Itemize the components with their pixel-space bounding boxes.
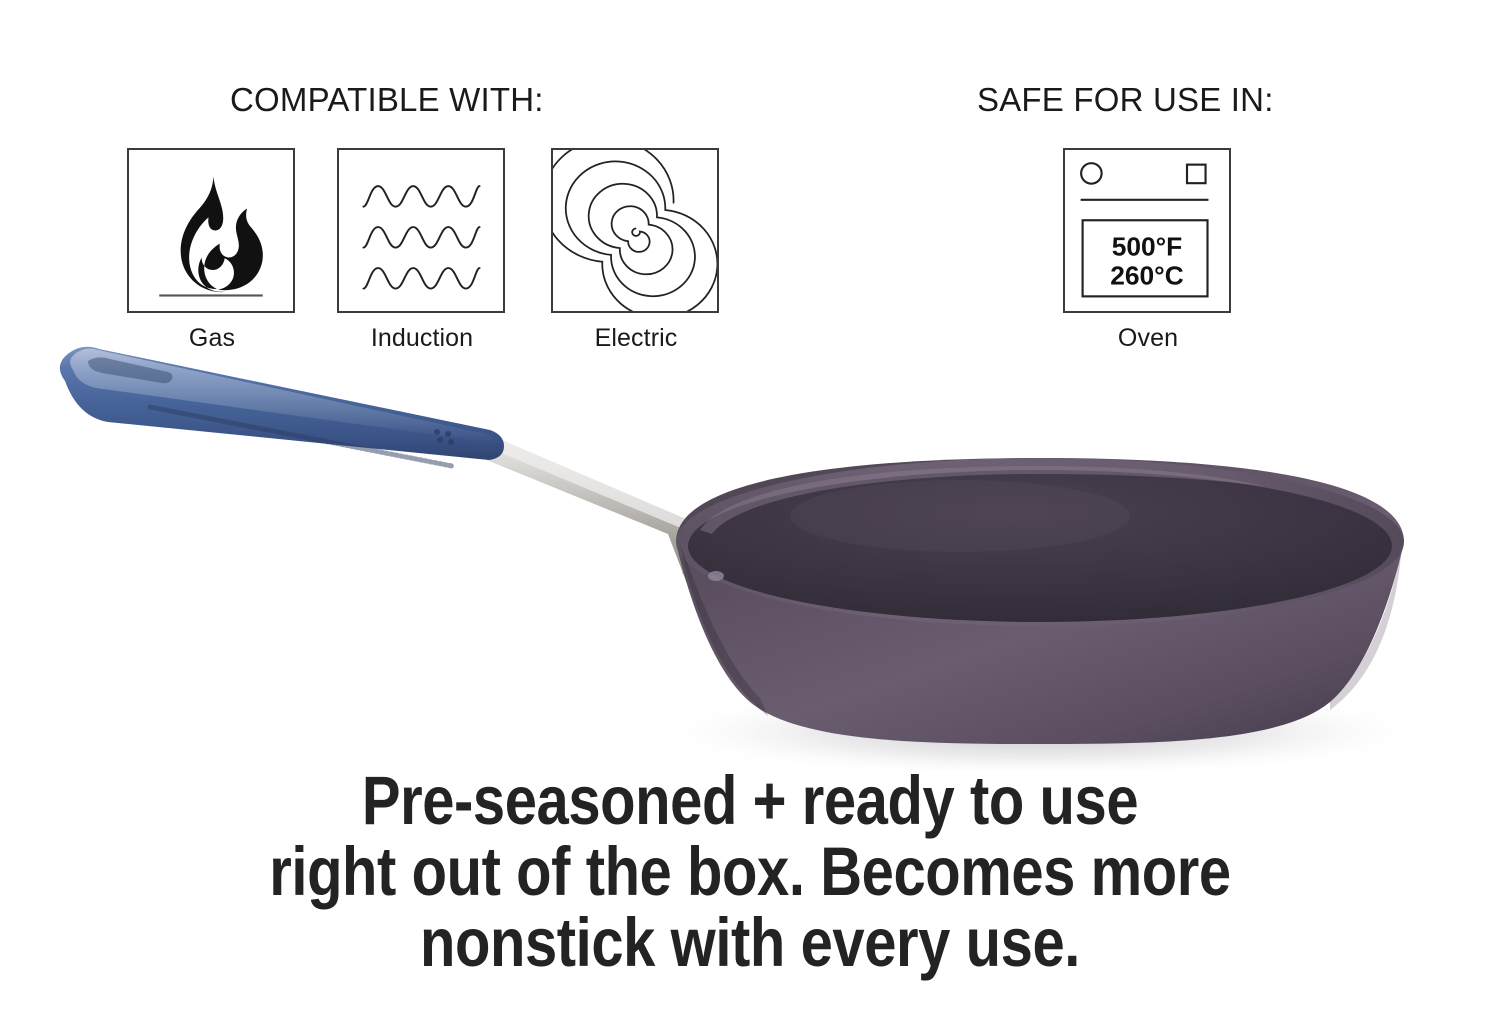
pan-silicone-handle-grip <box>60 347 504 466</box>
induction-icon-box <box>337 148 505 313</box>
pan-illustration-svg <box>0 330 1460 770</box>
induction-waves-icon <box>339 150 503 311</box>
pan-rivet <box>708 571 724 581</box>
compatibility-item-electric: Electric <box>551 148 721 353</box>
oven-icon-box: 500°F 260°C <box>1063 148 1231 313</box>
pan-steel-stem <box>462 428 722 611</box>
electric-coil-spiral-icon <box>553 150 717 311</box>
product-feature-graphic: COMPATIBLE WITH: SAFE FOR USE IN: Gas In… <box>0 0 1500 1015</box>
compatible-with-heading: COMPATIBLE WITH: <box>230 81 544 119</box>
headline-line-2: right out of the box. Becomes more <box>120 836 1380 907</box>
oven-temp-celsius: 260°C <box>1110 261 1183 291</box>
oven-icon: 500°F 260°C <box>1065 150 1229 311</box>
compatibility-item-induction: Induction <box>337 148 507 353</box>
headline-line-1: Pre-seasoned + ready to use <box>120 765 1380 836</box>
gas-icon-box <box>127 148 295 313</box>
pan-body <box>676 458 1404 744</box>
oven-temp-fahrenheit: 500°F <box>1112 231 1183 261</box>
headline-text: Pre-seasoned + ready to use right out of… <box>120 765 1380 978</box>
safe-for-use-in-heading: SAFE FOR USE IN: <box>977 81 1274 119</box>
safe-use-item-oven: 500°F 260°C Oven <box>1063 148 1233 353</box>
flame-icon <box>129 150 293 311</box>
compatibility-item-gas: Gas <box>127 148 297 353</box>
headline-line-3: nonstick with every use. <box>120 907 1380 978</box>
electric-icon-box <box>551 148 719 313</box>
frying-pan-product-image <box>0 330 1460 770</box>
